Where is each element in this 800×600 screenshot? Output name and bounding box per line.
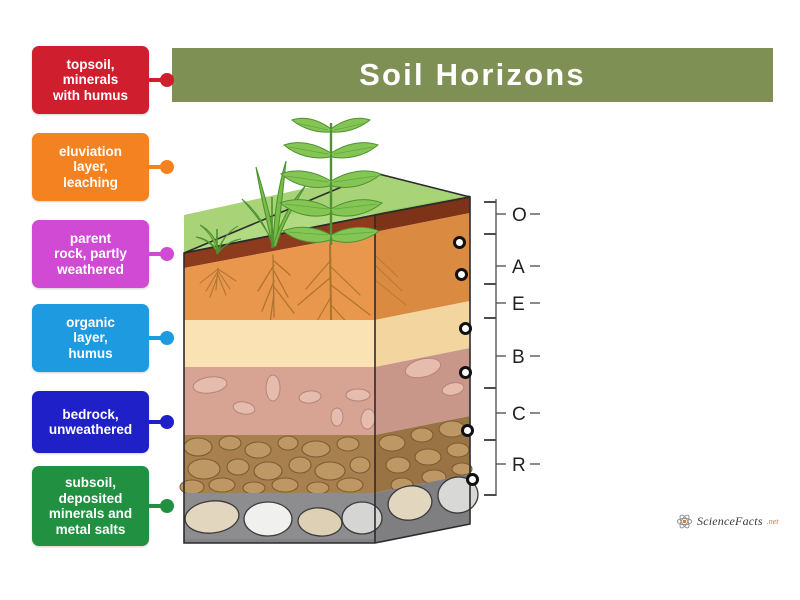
title-bar: Soil Horizons	[172, 48, 773, 102]
label-text-bedrock: bedrock,unweathered	[49, 407, 132, 438]
horizon-label-C: C	[512, 404, 526, 425]
label-box-subsoil[interactable]: subsoil,depositedminerals andmetal salts	[32, 466, 149, 546]
horizon-label-O: O	[512, 205, 527, 226]
connector-dot-topsoil	[160, 73, 174, 87]
horizon-label-A: A	[512, 257, 525, 278]
page-title: Soil Horizons	[359, 57, 586, 93]
label-text-parent: parentrock, partlyweathered	[54, 231, 127, 278]
atom-icon	[676, 513, 693, 530]
label-text-topsoil: topsoil,mineralswith humus	[53, 57, 128, 104]
logo-text: ScienceFacts	[697, 514, 763, 529]
label-text-subsoil: subsoil,depositedminerals andmetal salts	[49, 475, 132, 537]
label-box-topsoil[interactable]: topsoil,mineralswith humus	[32, 46, 149, 114]
marker-r	[466, 473, 479, 486]
soil-block-illustration	[170, 105, 490, 545]
marker-o	[453, 236, 466, 249]
soil-horizons-diagram: Soil Horizons topsoil,mineralswith humus…	[0, 0, 800, 600]
logo-tld: .net	[767, 517, 779, 526]
label-box-eluviation[interactable]: eluviationlayer,leaching	[32, 133, 149, 201]
horizon-scale: OAEBCR	[482, 196, 562, 506]
sciencefacts-logo: ScienceFacts .net	[676, 513, 778, 530]
marker-a	[455, 268, 468, 281]
label-text-organic: organiclayer,humus	[66, 315, 115, 362]
label-box-parent[interactable]: parentrock, partlyweathered	[32, 220, 149, 288]
marker-b	[459, 366, 472, 379]
marker-e	[459, 322, 472, 335]
horizon-label-R: R	[512, 455, 526, 476]
horizon-label-B: B	[512, 347, 525, 368]
label-box-bedrock[interactable]: bedrock,unweathered	[32, 391, 149, 453]
marker-c	[461, 424, 474, 437]
label-box-organic[interactable]: organiclayer,humus	[32, 304, 149, 372]
label-text-eluviation: eluviationlayer,leaching	[59, 144, 122, 191]
horizon-label-E: E	[512, 294, 525, 315]
